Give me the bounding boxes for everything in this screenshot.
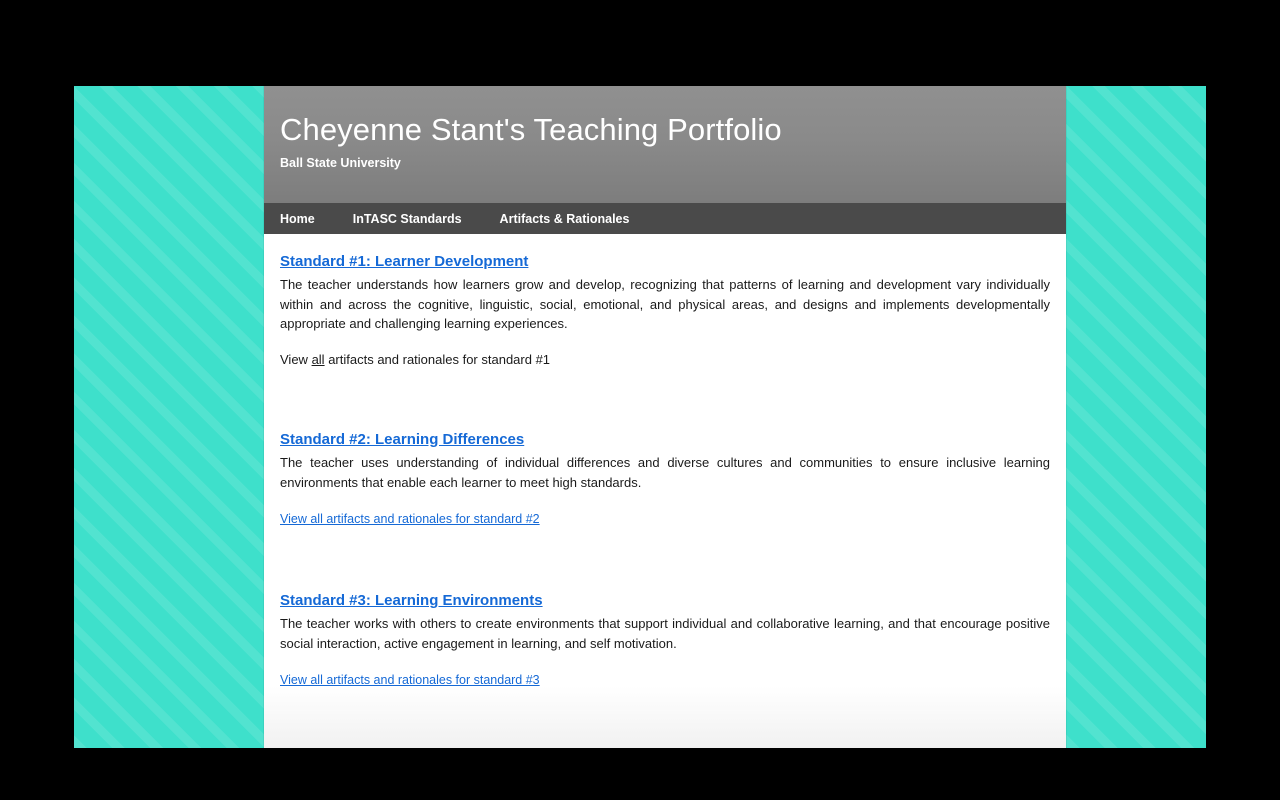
site-subtitle: Ball State University — [280, 156, 401, 170]
standard-block: Standard #3: Learning Environments The t… — [280, 591, 1050, 689]
standard-1-artifacts-line: View all artifacts and rationales for st… — [280, 352, 1050, 367]
standard-1-link-suffix: artifacts and rationales for standard #1 — [325, 352, 550, 367]
spacer — [280, 551, 1050, 591]
nav-item-intasc-standards[interactable]: InTASC Standards — [353, 212, 462, 226]
nav-item-home[interactable]: Home — [280, 212, 315, 226]
standard-1-link-prefix: View — [280, 352, 312, 367]
standard-2-artifacts-link[interactable]: View all artifacts and rationales for st… — [280, 512, 540, 526]
spacer — [280, 712, 1050, 748]
nav-item-artifacts-rationales[interactable]: Artifacts & Rationales — [500, 212, 630, 226]
standard-1-description: The teacher understands how learners gro… — [280, 275, 1050, 334]
standard-1-heading-link[interactable]: Standard #1: Learner Development — [280, 252, 528, 272]
standard-block: Standard #1: Learner Development The tea… — [280, 252, 1050, 367]
spacer — [280, 334, 1050, 352]
standard-2-description: The teacher uses understanding of indivi… — [280, 453, 1050, 492]
standard-block: Standard #2: Learning Differences The te… — [280, 430, 1050, 528]
content-area: Standard #1: Learner Development The tea… — [264, 234, 1066, 748]
site-container: Cheyenne Stant's Teaching Portfolio Ball… — [264, 86, 1066, 748]
site-header: Cheyenne Stant's Teaching Portfolio Ball… — [264, 86, 1066, 203]
standard-3-heading-link[interactable]: Standard #3: Learning Environments — [280, 591, 543, 611]
spacer — [280, 492, 1050, 510]
page-title: Cheyenne Stant's Teaching Portfolio — [280, 112, 782, 148]
main-navigation: Home InTASC Standards Artifacts & Ration… — [264, 203, 1066, 234]
standard-2-heading-link[interactable]: Standard #2: Learning Differences — [280, 430, 524, 450]
standard-3-artifacts-link[interactable]: View all artifacts and rationales for st… — [280, 673, 540, 687]
spacer — [280, 653, 1050, 671]
standard-3-description: The teacher works with others to create … — [280, 614, 1050, 653]
standard-1-link-emphasis[interactable]: all — [312, 352, 325, 367]
spacer — [280, 390, 1050, 430]
